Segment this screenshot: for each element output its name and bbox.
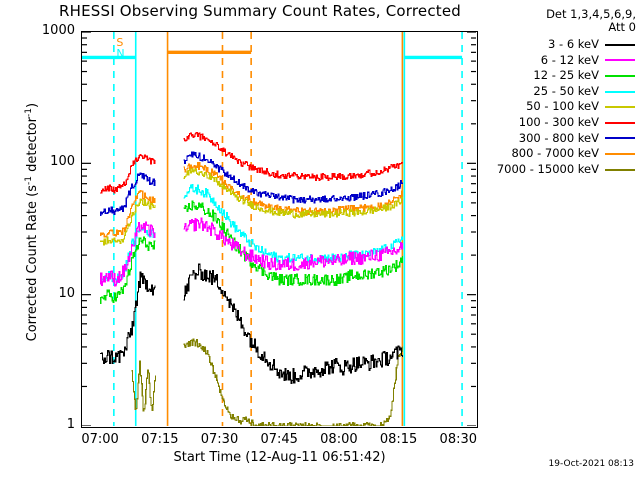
legend-item: 25 - 50 keV (486, 84, 640, 100)
x-tick-label: 07:15 (130, 432, 190, 447)
legend-attenuator: Att 0 (486, 21, 640, 34)
plot-frame (81, 31, 478, 428)
legend-item: 50 - 100 keV (486, 99, 640, 115)
legend-color-swatch (604, 84, 640, 100)
legend-color-swatch (604, 115, 640, 131)
legend-item-label: 100 - 300 keV (486, 115, 604, 131)
legend-item: 6 - 12 keV (486, 53, 640, 69)
legend-color-swatch (604, 37, 640, 53)
legend-color-swatch (604, 131, 640, 147)
series-8 (132, 339, 403, 426)
legend-item-label: 800 - 7000 keV (486, 146, 604, 162)
legend-item: 100 - 300 keV (486, 115, 640, 131)
x-tick-label: 07:00 (70, 432, 130, 447)
page-title: RHESSI Observing Summary Count Rates, Co… (0, 2, 520, 20)
x-tick-label: 07:45 (249, 432, 309, 447)
legend: Det 1,3,4,5,6,9, Att 0 3 - 6 keV6 - 12 k… (486, 8, 640, 177)
legend-item: 12 - 25 keV (486, 68, 640, 84)
legend-color-swatch (604, 146, 640, 162)
legend-item-label: 6 - 12 keV (486, 53, 604, 69)
x-tick-label: 08:30 (428, 432, 488, 447)
legend-item: 7000 - 15000 keV (486, 162, 640, 178)
x-tick-label: 07:30 (189, 432, 249, 447)
plot-canvas (82, 32, 477, 427)
legend-item-label: 3 - 6 keV (486, 37, 604, 53)
chart-svg (82, 32, 476, 426)
legend-table: 3 - 6 keV6 - 12 keV12 - 25 keV25 - 50 ke… (486, 37, 640, 177)
x-tick-label: 08:00 (309, 432, 369, 447)
rhessi-plot-page: RHESSI Observing Summary Count Rates, Co… (0, 0, 640, 480)
legend-item: 300 - 800 keV (486, 131, 640, 147)
legend-item-label: 12 - 25 keV (486, 68, 604, 84)
x-tick-label: 08:15 (369, 432, 429, 447)
y-axis-label: Corrected Count Rate (s-1 detector-1) (24, 22, 40, 422)
legend-item-label: 7000 - 15000 keV (486, 162, 604, 178)
legend-color-swatch (604, 162, 640, 178)
legend-item-label: 300 - 800 keV (486, 131, 604, 147)
legend-item-label: 50 - 100 keV (486, 99, 604, 115)
night-marker-label: N (116, 48, 124, 59)
generation-timestamp: 19-Oct-2021 08:13 (0, 459, 634, 469)
legend-item: 800 - 7000 keV (486, 146, 640, 162)
legend-color-swatch (604, 68, 640, 84)
legend-color-swatch (604, 53, 640, 69)
legend-color-swatch (604, 99, 640, 115)
legend-item: 3 - 6 keV (486, 37, 640, 53)
legend-item-label: 25 - 50 keV (486, 84, 604, 100)
